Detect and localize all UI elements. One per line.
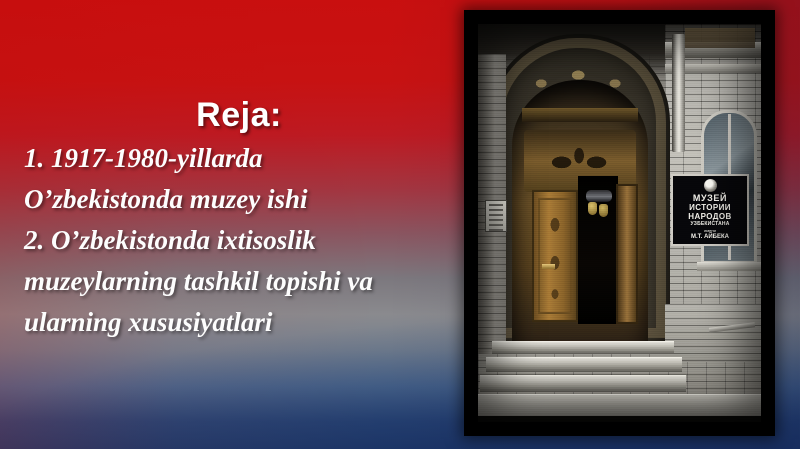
slide-line-2: O’zbekistonda muzey ishi [24,179,454,220]
slide-line-3: 2. O’zbekistonda ixtisoslik [24,220,454,261]
slide-line-4: muzeylarning tashkil topishi va [24,261,454,302]
slide-line-5: ularning xususiyatlari [24,302,454,343]
photo-frame: МУЗЕЙ ИСТОРИИ НАРОДОВ УЗБЕКИСТАНА имени … [464,10,775,436]
slide-line-1: 1. 1917-1980-yillarda [24,138,454,179]
slide-text-block: Reja: 1. 1917-1980-yillarda O’zbekistond… [0,96,462,343]
presentation-slide: Reja: 1. 1917-1980-yillarda O’zbekistond… [0,0,800,449]
museum-entrance-photo: МУЗЕЙ ИСТОРИИ НАРОДОВ УЗБЕКИСТАНА имени … [478,24,761,422]
slide-title: Reja: [24,96,454,134]
photo-vignette [478,24,761,422]
